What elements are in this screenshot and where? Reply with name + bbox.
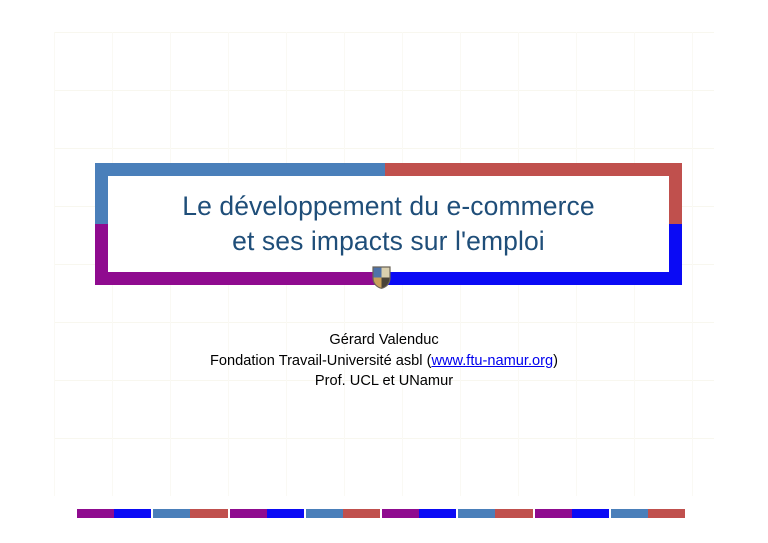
bar-segment-right-half [267, 509, 304, 518]
bar-segment-right-half [190, 509, 227, 518]
bar-segment [458, 509, 532, 518]
bar-segment-left-half [77, 509, 114, 518]
bar-segment-left-half [611, 509, 648, 518]
frame-edge-left-bottom [95, 224, 108, 285]
bar-segment-right-half [114, 509, 151, 518]
ftu-shield-logo-icon [372, 266, 391, 289]
bar-segment-right-half [572, 509, 609, 518]
author-position: Prof. UCL et UNamur [0, 371, 768, 392]
website-link[interactable]: www.ftu-namur.org [431, 353, 553, 369]
frame-edge-bottom-left [95, 272, 385, 285]
bar-segment [382, 509, 456, 518]
bar-segment [230, 509, 304, 518]
bar-segment-left-half [153, 509, 190, 518]
bar-segment-right-half [419, 509, 456, 518]
frame-edge-right-top [669, 163, 682, 224]
bar-segment-right-half [495, 509, 532, 518]
bar-segment [535, 509, 609, 518]
frame-edge-bottom-right [385, 272, 682, 285]
bar-segment-right-half [648, 509, 685, 518]
frame-edge-top-left [95, 163, 385, 176]
affiliation-line: Fondation Travail-Université asbl (www.f… [0, 351, 768, 372]
bar-segment-left-half [535, 509, 572, 518]
bottom-decorative-bar [77, 509, 685, 518]
author-name: Gérard Valenduc [0, 330, 768, 351]
bar-segment [611, 509, 685, 518]
title-box: Le développement du e-commerce et ses im… [108, 176, 669, 272]
bar-segment [77, 509, 151, 518]
presentation-slide: Le développement du e-commerce et ses im… [0, 0, 768, 543]
slide-title: Le développement du e-commerce et ses im… [182, 189, 595, 259]
bar-segment-left-half [306, 509, 343, 518]
affiliation-prefix: Fondation Travail-Université asbl ( [210, 353, 431, 369]
bar-segment-left-half [230, 509, 267, 518]
frame-edge-top-right [385, 163, 682, 176]
bar-segment-left-half [458, 509, 495, 518]
affiliation-suffix: ) [553, 353, 558, 369]
frame-edge-left-top [95, 163, 108, 224]
bar-segment-left-half [382, 509, 419, 518]
bar-segment [153, 509, 227, 518]
frame-edge-right-bottom [669, 224, 682, 285]
bar-segment [306, 509, 380, 518]
bar-segment-right-half [343, 509, 380, 518]
subtitle-block: Gérard Valenduc Fondation Travail-Univer… [0, 330, 768, 392]
